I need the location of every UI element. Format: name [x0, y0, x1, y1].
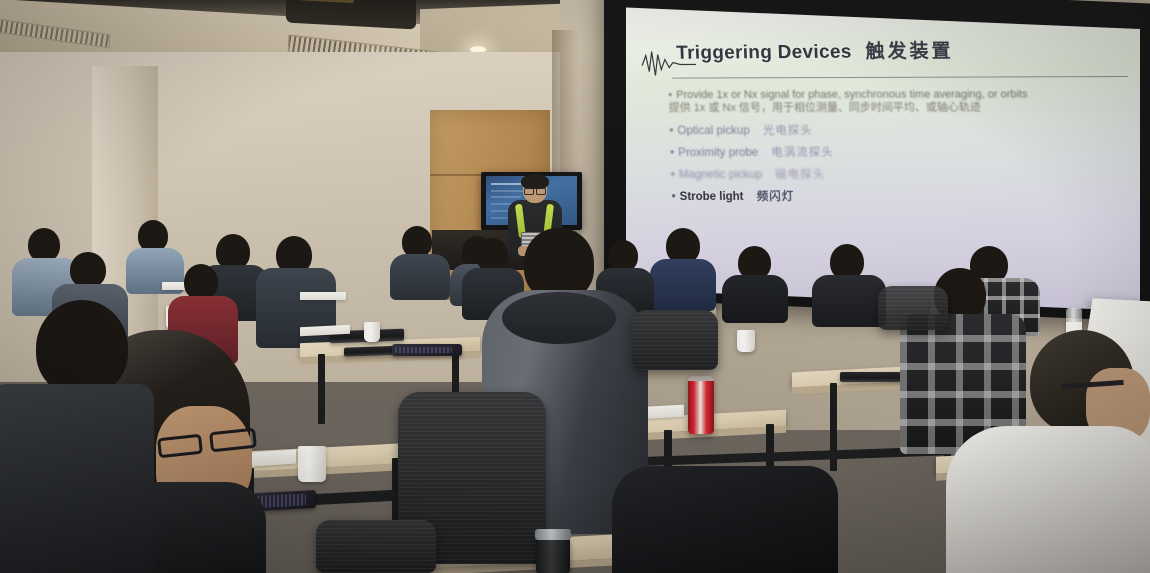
slide-bullet-item: •Magnetic pickup 磁电探头	[671, 167, 1127, 182]
slide-bullet-list: •Provide 1x or Nx signal for phase, sync…	[668, 88, 1128, 212]
paper-cup	[298, 446, 326, 482]
office-chair	[316, 520, 436, 573]
thermos-bottle	[536, 538, 570, 573]
bullet-text-en: Magnetic pickup	[679, 169, 762, 181]
bullet-text-en: Optical pickup	[677, 125, 750, 137]
bullet-text-cn: 电涡流探头	[771, 147, 834, 159]
bullet-text-cn: 磁电探头	[775, 169, 825, 181]
classroom-photo: Triggering Devices 触发装置 •Provide 1x or N…	[0, 0, 1150, 573]
waveform-icon	[639, 45, 698, 79]
bullet-text-en: Proximity probe	[678, 147, 758, 159]
slide-bullet-item: •Optical pickup 光电探头	[669, 123, 1125, 138]
student	[812, 244, 884, 324]
handout-paper	[300, 292, 346, 300]
hoodie-hood	[502, 292, 616, 344]
bullet-text-cn: 提供 1x 或 Nx 信号，用于相位测量、同步时间平均、或轴心轨迹	[669, 102, 1125, 116]
student	[612, 466, 832, 573]
slide-bullet-item: •Proximity probe 电涡流探头	[670, 145, 1126, 160]
bullet-text-en: Provide 1x or Nx signal for phase, synch…	[676, 88, 1028, 101]
notebook	[840, 372, 902, 382]
slide-bullet-item: •Strobe light 频闪灯	[671, 189, 1127, 204]
student	[652, 228, 714, 308]
slide-title-rule	[672, 76, 1128, 79]
soda-can	[688, 376, 714, 434]
student	[722, 246, 786, 318]
slide-title-en: Triggering Devices	[676, 42, 852, 65]
laptop	[392, 344, 462, 356]
slide-title-row: Triggering Devices 触发装置	[648, 31, 1123, 65]
student	[0, 300, 150, 573]
glasses-icon	[524, 186, 546, 191]
desk-leg	[318, 354, 325, 424]
office-chair	[878, 286, 948, 330]
student	[392, 226, 448, 296]
bullet-text-cn: 光电探头	[763, 125, 813, 137]
slide-bullet-item: •Provide 1x or Nx signal for phase, sync…	[668, 88, 1125, 116]
bullet-text-cn: 频闪灯	[757, 191, 795, 203]
glasses-icon	[158, 428, 264, 454]
paper-cup	[364, 322, 380, 342]
office-chair	[632, 310, 718, 370]
bullet-text-en: Strobe light	[679, 191, 743, 203]
student-white-shirt	[946, 330, 1150, 573]
paper-cup	[737, 330, 755, 352]
slide-title-cn: 触发装置	[865, 36, 954, 64]
